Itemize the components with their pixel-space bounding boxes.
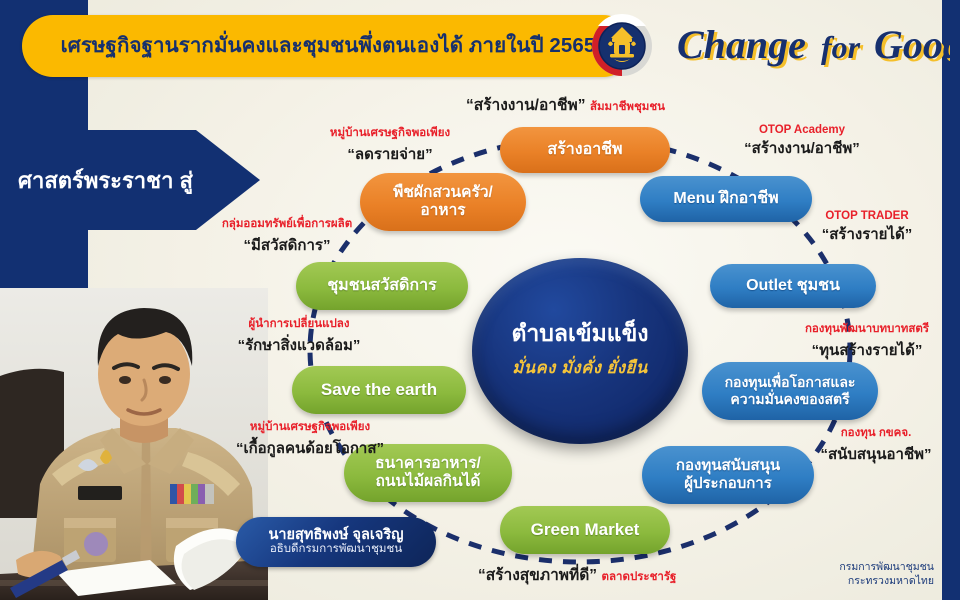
anno-green-market: “สร้างสุขภาพที่ดี” ตลาดประชารัฐ bbox=[478, 562, 676, 587]
node-label: กองทุนเพื่อโอกาสและ ความมั่นคงของสตรี bbox=[725, 374, 856, 407]
node-label: Outlet ชุมชน bbox=[746, 277, 840, 296]
node-label: Green Market bbox=[531, 520, 640, 540]
header-title: เศรษฐกิจฐานรากมั่นคงและชุมชนพึ่งตนเองได้… bbox=[61, 36, 596, 57]
footer-credits: กรมการพัฒนาชุมชน กระทรวงมหาดไทย bbox=[839, 560, 934, 588]
hub-title: ตำบลเข้มแข็ง bbox=[511, 321, 648, 346]
node-kongtun-okat[interactable]: กองทุนเพื่อโอกาสและ ความมั่นคงของสตรี bbox=[702, 362, 878, 420]
anno-mee-sawatdikan: กลุ่มออมทรัพย์เพื่อการผลิต “มีสวัสดิการ” bbox=[192, 215, 382, 257]
footer-line-2: กระทรวงมหาดไทย bbox=[839, 574, 934, 588]
anno-red-text: ตลาดประชารัฐ bbox=[602, 571, 677, 583]
anno-red-text: OTOP Academy bbox=[712, 124, 892, 136]
anno-kongtun-bot: กองทุนพัฒนาบทบาทสตรี “ทุนสร้างรายได้” bbox=[782, 320, 952, 362]
anno-red-text: OTOP TRADER bbox=[792, 210, 942, 222]
node-outlet-chumchon[interactable]: Outlet ชุมชน bbox=[710, 264, 876, 308]
infographic-canvas: เศรษฐกิจฐานรากมั่นคงและชุมชนพึ่งตนเองได้… bbox=[0, 0, 960, 600]
cdd-emblem-icon bbox=[590, 14, 654, 78]
anno-red-text: กองทุนพัฒนาบทบาทสตรี bbox=[782, 320, 952, 338]
right-navy-band bbox=[942, 0, 960, 600]
node-label: กองทุนสนับสนุน ผู้ประกอบการ bbox=[676, 457, 780, 492]
anno-red-text: กองทุน กขคจ. bbox=[800, 424, 952, 442]
node-label: ชุมชนสวัสดิการ bbox=[327, 277, 436, 296]
anno-black-text: “ลดรายจ่าย” bbox=[300, 142, 480, 166]
nameplate: นายสุทธิพงษ์ จุลเจริญ อธิบดีกรมการพัฒนาช… bbox=[236, 517, 436, 567]
anno-black-text: “มีสวัสดิการ” bbox=[192, 233, 382, 257]
node-kongtun-sanap[interactable]: กองทุนสนับสนุน ผู้ประกอบการ bbox=[642, 446, 814, 504]
svg-text:Change: Change bbox=[677, 22, 806, 67]
anno-red-text: หมู่บ้านเศรษฐกิจพอเพียง bbox=[300, 124, 480, 142]
node-label: ธนาคารอาหาร/ ถนนไม้ผลกินได้ bbox=[375, 455, 481, 492]
anno-srang-ngan-top: “สร้างงาน/อาชีพ” ส้มมาชีพชุมชน bbox=[466, 92, 665, 117]
anno-black-text: “ทุนสร้างรายได้” bbox=[782, 338, 952, 362]
anno-black-text: “สร้างสุขภาพที่ดี” bbox=[478, 567, 597, 584]
node-chumchon-sawatdikan[interactable]: ชุมชนสวัสดิการ bbox=[296, 262, 468, 310]
anno-keuakun: หมู่บ้านเศรษฐกิจพอเพียง “เกื้อกูลคนด้อยโ… bbox=[210, 418, 410, 460]
anno-raksa-singwaetlom: ผู้นำการเปลี่ยนแปลง “รักษาสิ่งแวดล้อม” bbox=[204, 315, 394, 357]
node-puechpak[interactable]: พืชผักสวนครัว/ อาหาร bbox=[360, 173, 526, 231]
arrow-banner-label: ศาสตร์พระราชา สู่ bbox=[18, 163, 232, 198]
anno-otop-trader: OTOP TRADER “สร้างรายได้” bbox=[792, 210, 942, 246]
anno-red-text: ผู้นำการเปลี่ยนแปลง bbox=[204, 315, 394, 333]
node-green-market[interactable]: Green Market bbox=[500, 506, 670, 554]
center-hub: ตำบลเข้มแข็ง มั่นคง มั่งคั่ง ยั่งยืน bbox=[472, 258, 688, 444]
official-name: นายสุทธิพงษ์ จุลเจริญ bbox=[268, 527, 403, 544]
svg-text:Good: Good bbox=[874, 22, 950, 67]
anno-black-text: “สนับสนุนอาชีพ” bbox=[800, 442, 952, 466]
anno-black-text: “สร้างงาน/อาชีพ” bbox=[466, 97, 585, 114]
footer-line-1: กรมการพัฒนาชุมชน bbox=[839, 560, 934, 574]
anno-black-text: “รักษาสิ่งแวดล้อม” bbox=[204, 333, 394, 357]
node-label: พืชผักสวนครัว/ อาหาร bbox=[393, 184, 493, 221]
anno-black-text: “เกื้อกูลคนด้อยโอกาส” bbox=[210, 436, 410, 460]
anno-red-text: กลุ่มออมทรัพย์เพื่อการผลิต bbox=[192, 215, 382, 233]
node-label: Menu ฝึกอาชีพ bbox=[673, 190, 778, 209]
node-menu-fuek-archeep[interactable]: Menu ฝึกอาชีพ bbox=[640, 176, 812, 222]
anno-otop-academy: OTOP Academy “สร้างงาน/อาชีพ” bbox=[712, 124, 892, 160]
node-save-the-earth[interactable]: Save the earth bbox=[292, 366, 466, 414]
anno-kongtun-kokhodo: กองทุน กขคจ. “สนับสนุนอาชีพ” bbox=[800, 424, 952, 466]
header-banner: เศรษฐกิจฐานรากมั่นคงและชุมชนพึ่งตนเองได้… bbox=[22, 15, 634, 77]
anno-red-text: ส้มมาชีพชุมชน bbox=[590, 101, 665, 113]
node-label: Save the earth bbox=[321, 380, 437, 400]
anno-black-text: “สร้างงาน/อาชีพ” bbox=[712, 136, 892, 160]
anno-lod-raijai: หมู่บ้านเศรษฐกิจพอเพียง “ลดรายจ่าย” bbox=[300, 124, 480, 166]
node-srang-archeep[interactable]: สร้างอาชีพ bbox=[500, 127, 670, 173]
hub-subtitle: มั่นคง มั่งคั่ง ยั่งยืน bbox=[512, 355, 648, 381]
anno-red-text: หมู่บ้านเศรษฐกิจพอเพียง bbox=[210, 418, 410, 436]
official-position: อธิบดีกรมการพัฒนาชุมชน bbox=[270, 543, 402, 557]
svg-text:for: for bbox=[821, 29, 861, 65]
anno-black-text: “สร้างรายได้” bbox=[792, 222, 942, 246]
node-label: สร้างอาชีพ bbox=[547, 141, 622, 160]
change-for-good-slogan: Change Change for for Good Good bbox=[672, 16, 950, 78]
